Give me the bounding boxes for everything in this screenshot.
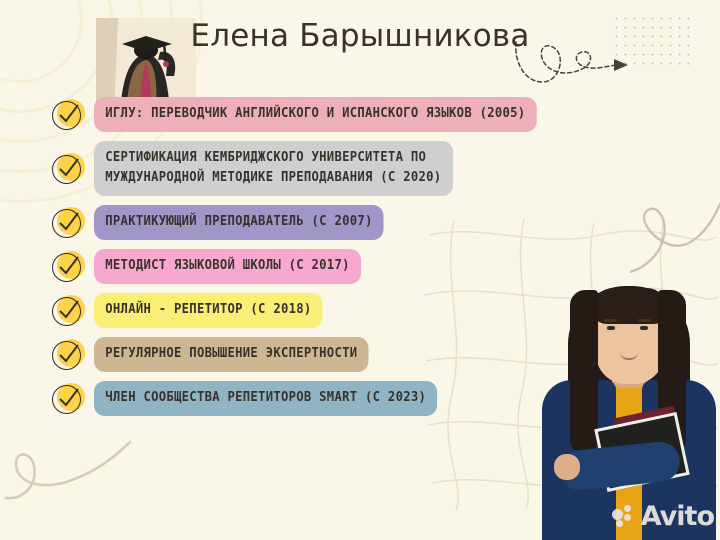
squiggle-decor-bottom-left xyxy=(4,424,134,504)
check-circle-icon xyxy=(52,152,85,185)
credential-badge: ЧЛЕН СООБЩЕСТВА РЕПЕТИТОРОВ SMART (С 202… xyxy=(94,381,437,416)
credential-badge: СЕРТИФИКАЦИЯ КЕМБРИДЖСКОГО УНИВЕРСИТЕТА … xyxy=(94,141,453,196)
list-item[interactable]: ПРАКТИКУЮЩИЙ ПРЕПОДАВАТЕЛЬ (С 2007) xyxy=(52,205,672,240)
list-item[interactable]: ИГЛУ: ПЕРЕВОДЧИК АНГЛИЙСКОГО И ИСПАНСКОГ… xyxy=(52,97,672,132)
page-title: Елена Барышникова xyxy=(0,18,720,54)
teacher-photo xyxy=(540,268,720,540)
check-circle-icon xyxy=(52,382,85,415)
check-circle-icon xyxy=(52,294,85,327)
check-circle-icon xyxy=(52,250,85,283)
credential-badge: ИГЛУ: ПЕРЕВОДЧИК АНГЛИЙСКОГО И ИСПАНСКОГ… xyxy=(94,97,537,132)
check-circle-icon xyxy=(52,206,85,239)
check-circle-icon xyxy=(52,338,85,371)
credential-badge: ОНЛАЙН - РЕПЕТИТОР (С 2018) xyxy=(94,293,323,328)
credential-badge: ПРАКТИКУЮЩИЙ ПРЕПОДАВАТЕЛЬ (С 2007) xyxy=(94,205,384,240)
avito-logo-icon xyxy=(612,505,638,529)
list-item[interactable]: СЕРТИФИКАЦИЯ КЕМБРИДЖСКОГО УНИВЕРСИТЕТА … xyxy=(52,141,672,196)
check-circle-icon xyxy=(52,98,85,131)
avito-watermark: Avito xyxy=(612,501,714,532)
slide-canvas: Елена Барышникова ИГЛУ: ПЕРЕВОДЧИК АНГЛИ… xyxy=(0,0,720,540)
watermark-text: Avito xyxy=(641,501,714,532)
credential-badge: МЕТОДИСТ ЯЗЫКОВОЙ ШКОЛЫ (С 2017) xyxy=(94,249,361,284)
credential-badge: РЕГУЛЯРНОЕ ПОВЫШЕНИЕ ЭКСПЕРТНОСТИ xyxy=(94,337,369,372)
